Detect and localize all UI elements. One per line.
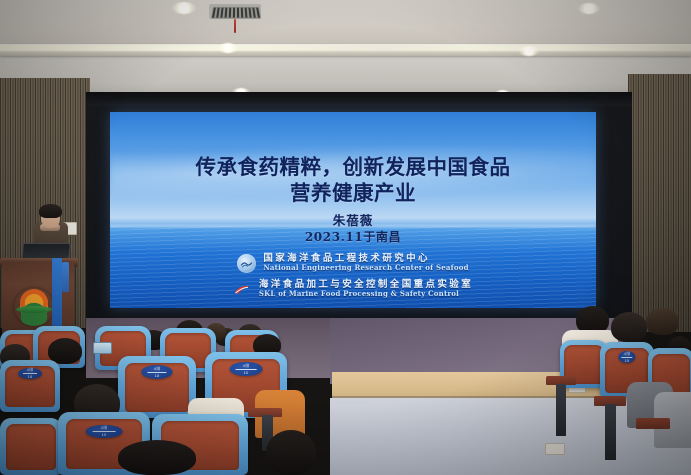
seat-seat-number: 15 [625, 359, 630, 363]
logo-row-lab: 海洋食品加工与安全控制全国重点实验室 SKL of Marine Food Pr… [110, 276, 596, 302]
slide-logo-block: 国家海洋食品工程技术研究中心 National Engineering Rese… [110, 250, 596, 302]
seat-number-plate: 4排 18 [141, 365, 172, 379]
seat-row-number: 4排 [27, 368, 34, 372]
audience-phone [93, 342, 112, 354]
projection-screen: 传承食药精粹，创新发展中国食品 营养健康产业 朱蓓薇 2023.11于南昌 国家… [110, 112, 596, 308]
house-wall-outlet [545, 443, 565, 455]
auditorium-seat[interactable] [0, 418, 62, 475]
emblem-green-band [16, 306, 52, 313]
audience-head [646, 308, 679, 335]
audience-head [611, 312, 647, 342]
ceiling-air-vent-icon [211, 7, 261, 19]
logo-en-center: National Engineering Research Center of … [263, 264, 468, 271]
slide-presenter-name: 朱蓓薇 [110, 210, 596, 229]
logo-text-lab: 海洋食品加工与安全控制全国重点实验室 SKL of Marine Food Pr… [259, 280, 473, 297]
seat-seat-number: 10 [102, 433, 107, 437]
seat-number-plate: 3排 10 [86, 425, 123, 439]
logo-text-center: 国家海洋食品工程技术研究中心 National Engineering Rese… [263, 254, 468, 271]
seat-row-number: 4排 [154, 367, 161, 371]
seat-number-plate: 4排 10 [230, 362, 263, 377]
seat-arm-post [556, 384, 566, 436]
seat-arm-post [605, 404, 616, 460]
seat-row-number: 4排 [624, 352, 631, 356]
seat-back-pad [6, 424, 57, 470]
seat-row-number: 3排 [101, 426, 108, 430]
auditorium-seat[interactable]: 4排 18 [0, 360, 60, 412]
recessed-downlight-icon [218, 43, 238, 53]
recessed-downlight-icon [578, 3, 600, 14]
backdrop-top-valance [86, 92, 632, 106]
slide-background: 传承食药精粹，创新发展中国食品 营养健康产业 朱蓓薇 2023.11于南昌 国家… [110, 112, 596, 308]
blue-drape-secondary [62, 262, 69, 292]
audience-head-foreground [118, 440, 196, 475]
seat-seat-number: 10 [244, 371, 249, 375]
ceiling-lower [0, 56, 691, 94]
seat-row-number: 4排 [243, 364, 250, 368]
slide-date-location: 2023.11于南昌 [110, 228, 596, 245]
logo-row-center: 国家海洋食品工程技术研究中心 National Engineering Rese… [110, 250, 596, 276]
seat-seat-number: 18 [28, 375, 33, 379]
slide-title-line-2: 营养健康产业 [110, 176, 596, 206]
cove-light-strip [0, 45, 691, 51]
blue-drape [52, 258, 62, 330]
seat-armrest [636, 418, 670, 429]
recessed-downlight-icon [172, 2, 196, 14]
presenter-hair [39, 204, 62, 218]
auditorium-seat[interactable]: 4排 18 [118, 356, 196, 418]
red-ribbon-streamer-icon [234, 19, 236, 33]
wave-circle-logo-icon [237, 254, 256, 273]
auditorium-photo: 传承食药精粹，创新发展中国食品 营养健康产业 朱蓓薇 2023.11于南昌 国家… [0, 0, 691, 475]
audience-head-foreground [266, 430, 316, 475]
logo-en-lab: SKL of Marine Food Processing & Safety C… [259, 290, 473, 297]
recessed-downlight-icon [519, 46, 539, 56]
seat-seat-number: 18 [155, 374, 160, 378]
red-ribbon-logo-icon [233, 280, 252, 299]
right-wall-shading [628, 74, 691, 332]
